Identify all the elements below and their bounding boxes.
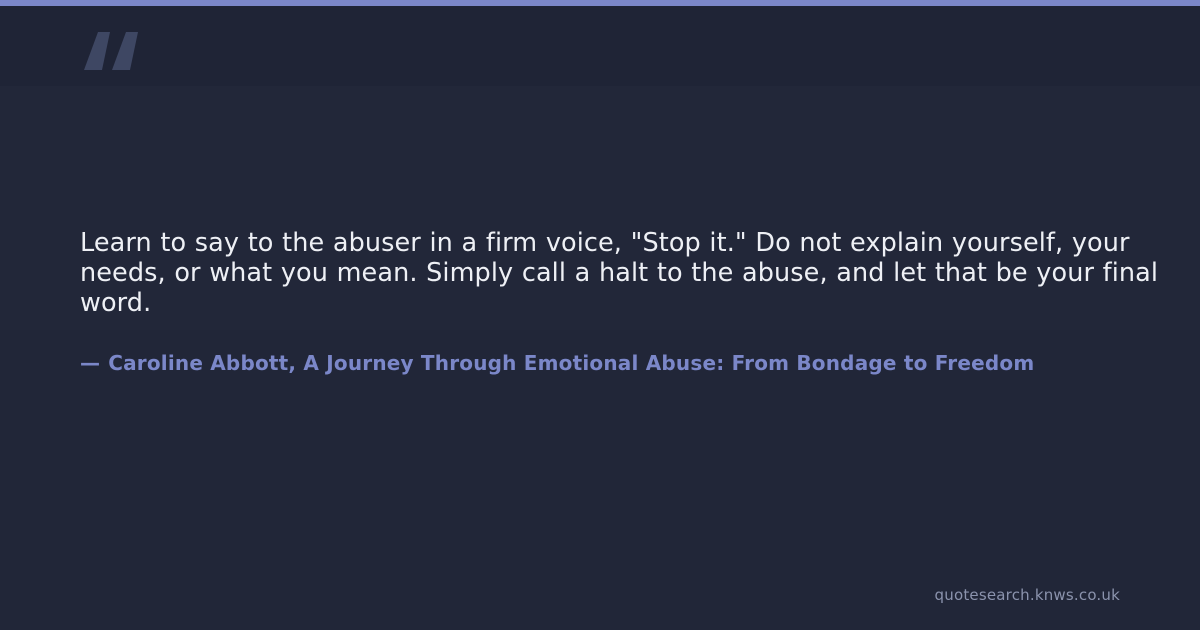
top-accent-bar (0, 0, 1200, 6)
quote-card: Learn to say to the abuser in a firm voi… (0, 0, 1200, 630)
attribution-text: Caroline Abbott, A Journey Through Emoti… (108, 351, 1034, 375)
attribution-dash: — (80, 351, 100, 375)
opening-double-quotation-mark-icon (80, 24, 150, 84)
quote-body: Learn to say to the abuser in a firm voi… (80, 228, 1200, 318)
attribution: —Caroline Abbott, A Journey Through Emot… (80, 348, 1034, 378)
site-watermark: quotesearch.knws.co.uk (935, 586, 1120, 604)
quote-text: Learn to say to the abuser in a firm voi… (80, 228, 1200, 318)
attribution-row: —Caroline Abbott, A Journey Through Emot… (80, 348, 1200, 378)
